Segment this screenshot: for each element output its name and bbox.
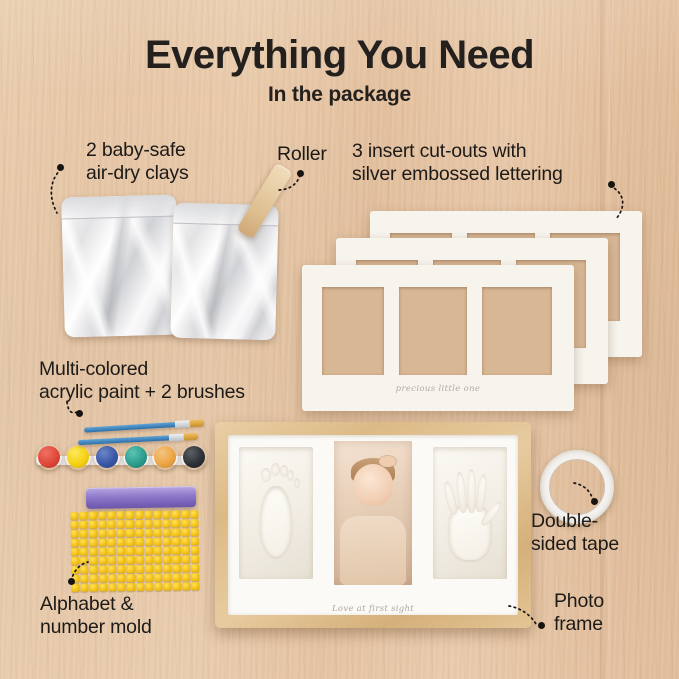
- insert-window: [482, 287, 552, 375]
- mold-cell: [173, 573, 181, 581]
- mold-cell: [126, 565, 134, 573]
- mold-cell: [182, 555, 190, 563]
- mold-cell: [118, 583, 126, 591]
- mold-cell: [172, 546, 180, 554]
- mold-cell: [80, 521, 88, 529]
- mold-cell: [145, 547, 153, 555]
- mold-cell: [153, 520, 161, 528]
- mold-cell: [99, 574, 107, 582]
- mold-cell: [126, 547, 134, 555]
- frame-caption: Love at first sight: [215, 604, 531, 614]
- pot-color: [67, 446, 89, 468]
- clay-pouch-left: [61, 195, 180, 338]
- insert-mat-1: precious little one: [302, 265, 574, 411]
- mold-cell: [153, 511, 161, 519]
- mold-cell: [145, 556, 153, 564]
- mold-cell: [182, 573, 190, 581]
- mold-cell: [163, 537, 171, 545]
- infographic-canvas: Everything You Need In the package 2 bab…: [0, 0, 679, 679]
- handprint-cast: [433, 447, 507, 579]
- mold-cell: [190, 528, 198, 536]
- mold-cell: [191, 582, 199, 590]
- mold-cell: [145, 574, 153, 582]
- mold-cell: [191, 546, 199, 554]
- mold-cell: [80, 548, 88, 556]
- mold-cell: [144, 520, 152, 528]
- paint-pot-3: [94, 444, 120, 470]
- mold-cell: [80, 530, 88, 538]
- connector-line-tape: [570, 480, 602, 506]
- brush-tip: [190, 419, 204, 427]
- mold-cell: [80, 512, 88, 520]
- mold-cell: [163, 546, 171, 554]
- mold-cell: [172, 537, 180, 545]
- mold-cell: [136, 565, 144, 573]
- mold-cell: [191, 555, 199, 563]
- mold-cell: [181, 528, 189, 536]
- mold-cell: [135, 547, 143, 555]
- mold-cell: [181, 537, 189, 545]
- mold-cell: [98, 520, 106, 528]
- mold-cell: [80, 539, 88, 547]
- mold-cell: [154, 583, 162, 591]
- connector-line-frame: [506, 600, 542, 630]
- handprint-finger: [475, 474, 488, 513]
- mold-cell: [117, 529, 125, 537]
- insert-caption-1: precious little one: [302, 384, 574, 394]
- connector-line-mold: [58, 556, 92, 586]
- mold-cell: [126, 529, 134, 537]
- mold-cell: [145, 565, 153, 573]
- pot-color: [38, 446, 60, 468]
- label-paint: Multi-colored acrylic paint + 2 brushes: [39, 358, 245, 403]
- insert-window: [322, 287, 384, 375]
- mold-cell: [182, 546, 190, 554]
- baby-head: [353, 464, 393, 506]
- mold-cell: [164, 582, 172, 590]
- mold-press-bar: [86, 486, 196, 509]
- brush-ferrule: [169, 434, 184, 442]
- mold-cell: [99, 583, 107, 591]
- mold-cell: [136, 583, 144, 591]
- mold-cell: [108, 574, 116, 582]
- mold-cell: [172, 519, 180, 527]
- mold-cell: [173, 564, 181, 572]
- mold-cell: [127, 574, 135, 582]
- mold-cell: [117, 538, 125, 546]
- pouch-seal: [61, 195, 177, 220]
- brush-tip: [184, 433, 198, 441]
- page-title: Everything You Need: [0, 34, 679, 76]
- mold-cell: [144, 529, 152, 537]
- mold-cell: [108, 538, 116, 546]
- mold-cell: [163, 519, 171, 527]
- label-mold: Alphabet & number mold: [40, 593, 152, 638]
- paint-brush-1: [84, 420, 204, 432]
- connector-line-inserts: [596, 184, 632, 222]
- mold-cell: [154, 574, 162, 582]
- page-subtitle: In the package: [0, 83, 679, 107]
- insert-window: [399, 287, 467, 375]
- mold-cell: [154, 547, 162, 555]
- footprint-cast: [239, 447, 313, 579]
- mold-cell: [71, 548, 79, 556]
- mold-cell: [145, 583, 153, 591]
- mold-cell: [89, 521, 97, 529]
- mold-cell: [117, 511, 125, 519]
- brush-ferrule: [175, 420, 190, 428]
- mold-cell: [98, 511, 106, 519]
- mold-cell: [117, 520, 125, 528]
- paint-pot-1: [36, 444, 62, 470]
- connector-line-clay: [44, 166, 78, 216]
- mold-cell: [70, 512, 78, 520]
- handprint-finger: [467, 469, 476, 513]
- pot-color: [125, 446, 147, 468]
- clay-pouch-right: [170, 203, 278, 341]
- mold-cell: [108, 556, 116, 564]
- paint-pot-2: [65, 444, 91, 470]
- footprint-toe: [261, 468, 271, 483]
- mold-cell: [108, 583, 116, 591]
- mold-cell: [89, 548, 97, 556]
- mold-cell: [145, 538, 153, 546]
- mold-cell: [107, 511, 115, 519]
- mold-cell: [191, 573, 199, 581]
- mold-cell: [154, 565, 162, 573]
- mold-cell: [71, 539, 79, 547]
- pot-color: [183, 446, 205, 468]
- mold-cell: [127, 583, 135, 591]
- mold-cell: [89, 512, 97, 520]
- mold-cell: [154, 556, 162, 564]
- mold-cell: [191, 537, 199, 545]
- mold-cell: [89, 539, 97, 547]
- label-frame: Photo frame: [554, 590, 604, 635]
- baby-body: [340, 516, 406, 585]
- mold-cell: [117, 547, 125, 555]
- label-tape: Double- sided tape: [531, 510, 619, 555]
- mold-cell: [154, 538, 162, 546]
- mold-cell: [135, 520, 143, 528]
- mold-cell: [107, 520, 115, 528]
- mold-cell: [172, 528, 180, 536]
- mold-cell: [98, 538, 106, 546]
- mold-cell: [117, 574, 125, 582]
- pot-color: [154, 446, 176, 468]
- paint-pot-5: [152, 444, 178, 470]
- mold-cell: [190, 510, 198, 518]
- photo-frame: Love at first sight: [215, 422, 531, 628]
- mold-cell: [71, 530, 79, 538]
- mold-cell: [181, 519, 189, 527]
- mold-cell: [182, 582, 190, 590]
- mold-cell: [163, 573, 171, 581]
- mold-cell: [126, 556, 134, 564]
- mold-cell: [108, 529, 116, 537]
- paint-pot-6: [181, 444, 207, 470]
- mold-cell: [99, 556, 107, 564]
- mold-cell: [126, 520, 134, 528]
- mold-cell: [71, 521, 79, 529]
- footprint-sole: [260, 486, 293, 557]
- mold-cell: [108, 547, 116, 555]
- mold-cell: [135, 538, 143, 546]
- mold-cell: [108, 565, 116, 573]
- mold-cell: [191, 564, 199, 572]
- mold-cell: [163, 510, 171, 518]
- mold-cell: [117, 556, 125, 564]
- mold-cell: [144, 511, 152, 519]
- mold-cell: [172, 555, 180, 563]
- label-clay: 2 baby-safe air-dry clays: [86, 139, 189, 184]
- mold-cell: [99, 547, 107, 555]
- footprint-toe: [271, 463, 280, 476]
- pot-color: [96, 446, 118, 468]
- connector-line-roller: [275, 172, 305, 196]
- mold-cell: [172, 510, 180, 518]
- label-inserts: 3 insert cut-outs with silver embossed l…: [352, 140, 563, 185]
- mold-cell: [99, 565, 107, 573]
- mold-cell: [163, 528, 171, 536]
- label-roller: Roller: [277, 143, 327, 166]
- mold-cell: [135, 511, 143, 519]
- mold-cell: [163, 555, 171, 563]
- mold-cell: [181, 510, 189, 518]
- baby-photo: [334, 441, 412, 585]
- heading-block: Everything You Need In the package: [0, 34, 679, 107]
- mold-cell: [136, 556, 144, 564]
- mold-cell: [163, 564, 171, 572]
- mold-cell: [117, 565, 125, 573]
- mold-cell: [126, 538, 134, 546]
- mold-cell: [89, 530, 97, 538]
- mold-cell: [182, 564, 190, 572]
- mold-cell: [190, 519, 198, 527]
- mold-cell: [136, 574, 144, 582]
- mold-cell: [173, 582, 181, 590]
- mold-cell: [126, 511, 134, 519]
- mold-cell: [98, 529, 106, 537]
- mold-cell: [135, 529, 143, 537]
- connector-line-paint: [62, 400, 88, 430]
- mold-cell: [154, 529, 162, 537]
- footprint-toe: [294, 478, 301, 487]
- paint-pot-4: [123, 444, 149, 470]
